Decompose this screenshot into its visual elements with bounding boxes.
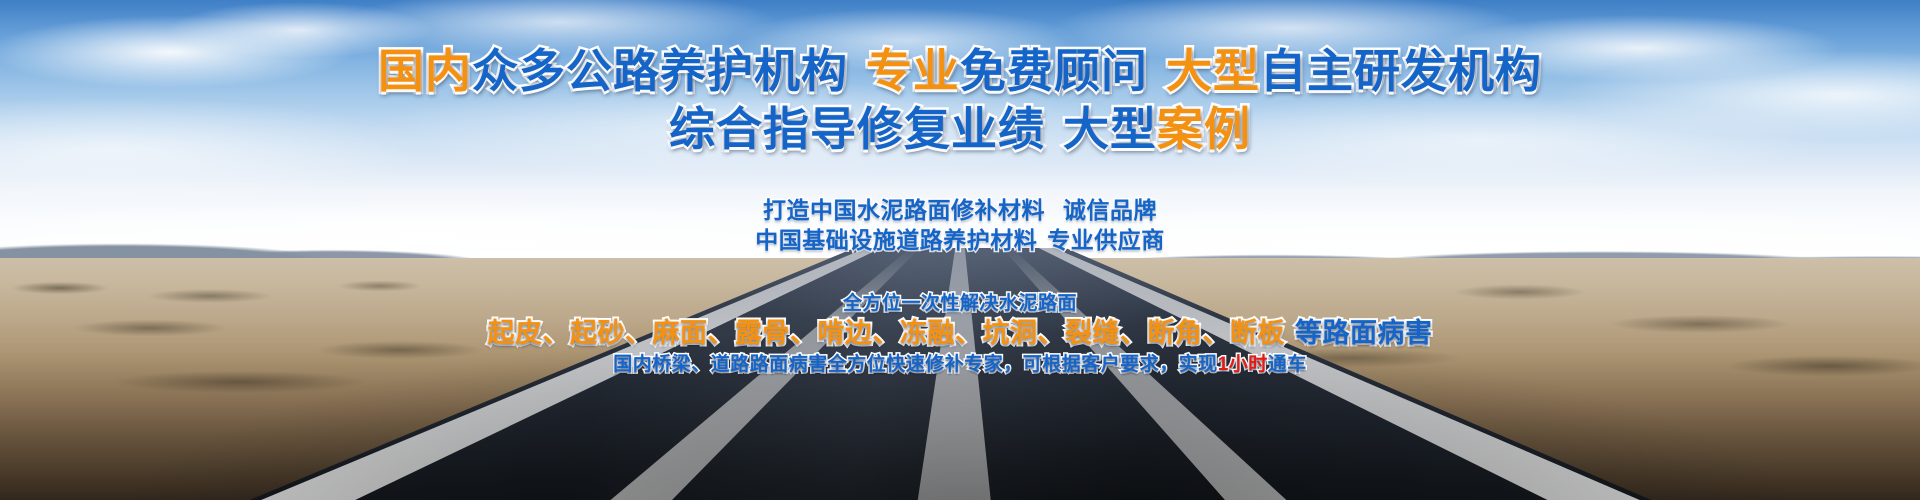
footer-defects-line: 起皮、起砂、麻面、露骨、啃边、冻融、坑洞、裂缝、断角、断板等路面病害	[0, 316, 1920, 350]
subheadline-line-1: 打造中国水泥路面修补材料诚信品牌	[0, 195, 1920, 225]
headline-seg-guonei: 国内	[378, 45, 472, 97]
footer-claim-line: 国内桥梁、道路路面病害全方位快速修补专家，可根据客户要求，实现1小时通车	[0, 352, 1920, 377]
subheadline-1b: 诚信品牌	[1063, 197, 1157, 223]
subheadline-line-2: 中国基础设施道路养护材料专业供应商	[0, 225, 1920, 255]
headline-seg-zizhu: 自主研发机构	[1260, 45, 1542, 97]
headline-seg-daxing-2: 大型	[1063, 103, 1157, 155]
headline-seg-anli: 案例	[1157, 103, 1251, 155]
footer-lead-line: 全方位一次性解决水泥路面	[0, 292, 1920, 316]
footer-claim-b: 通车	[1268, 354, 1307, 375]
headline-seg-zhongduo: 众多公路养护机构	[472, 45, 848, 97]
footer-claim-a: 国内桥梁、道路路面病害全方位快速修补专家，可根据客户要求，实现	[613, 354, 1218, 375]
headline-line-2: 综合指导修复业绩大型案例	[0, 100, 1920, 158]
headline-line-1: 国内众多公路养护机构专业免费顾问大型自主研发机构	[0, 42, 1920, 100]
footer-defect-suffix: 等路面病害	[1295, 318, 1433, 348]
subheadline-1a: 打造中国水泥路面修补材料	[763, 197, 1045, 223]
headline-seg-zhuanye: 专业	[866, 45, 960, 97]
headline-seg-mianfei: 免费顾问	[960, 45, 1148, 97]
banner-content: 国内众多公路养护机构专业免费顾问大型自主研发机构 综合指导修复业绩大型案例 打造…	[0, 0, 1920, 500]
headline-seg-daxing: 大型	[1166, 45, 1260, 97]
subheadline-2b: 专业供应商	[1047, 227, 1165, 253]
footer-defect-list: 起皮、起砂、麻面、露骨、啃边、冻融、坑洞、裂缝、断角、断板	[488, 318, 1286, 348]
subheadline-2a: 中国基础设施道路养护材料	[755, 227, 1037, 253]
headline-seg-zonghe: 综合指导修复业绩	[669, 103, 1045, 155]
footer-claim-highlight: 1小时	[1218, 354, 1268, 375]
promotional-banner: 国内众多公路养护机构专业免费顾问大型自主研发机构 综合指导修复业绩大型案例 打造…	[0, 0, 1920, 500]
